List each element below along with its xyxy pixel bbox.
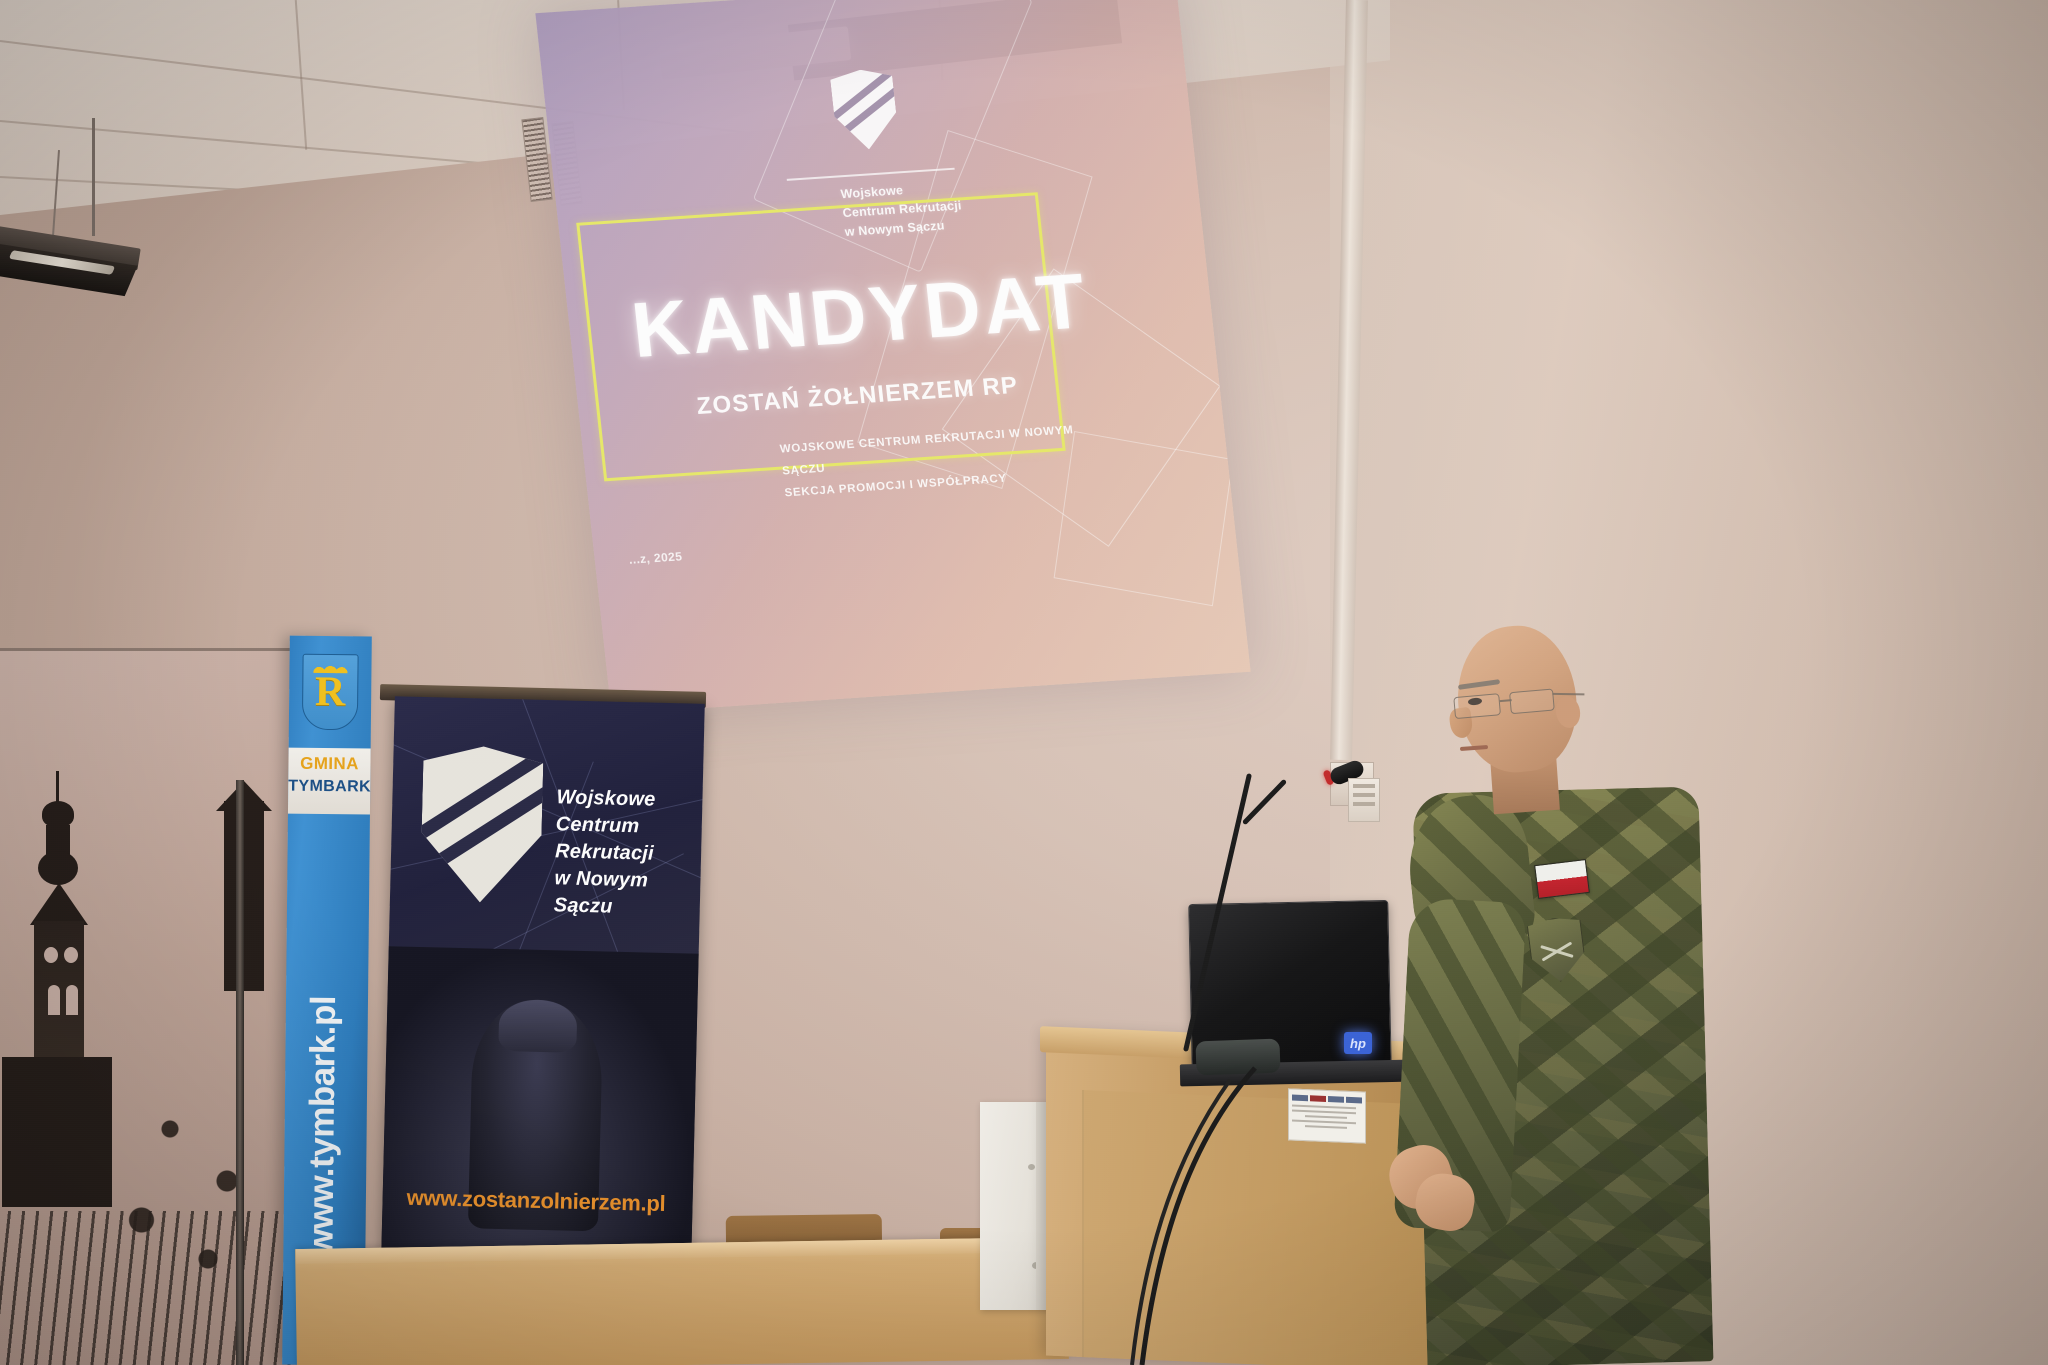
polish-flag-patch-icon bbox=[1534, 859, 1590, 899]
flag-label-tymbark: TYMBARK bbox=[288, 778, 370, 797]
crossed-swords-icon bbox=[1539, 938, 1576, 966]
presentation-room-scene: Wojskowe Centrum Rekrutacji w Nowym Sącz… bbox=[0, 0, 2048, 1365]
projection-screen: Wojskowe Centrum Rekrutacji w Nowym Sącz… bbox=[535, 0, 1250, 714]
banner-org-line-2: Centrum bbox=[555, 811, 704, 842]
shield-icon bbox=[420, 745, 544, 904]
flag-pole bbox=[236, 780, 244, 1365]
speaker-officer bbox=[1380, 600, 1710, 1365]
banner-organization-name: Wojskowe Centrum Rekrutacji w Nowym Sącz… bbox=[553, 784, 704, 923]
crest-letter: R bbox=[315, 671, 346, 713]
banner-org-line-1: Wojskowe bbox=[556, 784, 705, 815]
clasped-hands bbox=[1390, 1136, 1480, 1232]
shield-icon bbox=[829, 68, 900, 152]
crowned-r-coat-of-arms-icon: R bbox=[302, 654, 359, 731]
banner-helmet-silhouette bbox=[498, 999, 577, 1053]
slide-date: ...z, 2025 bbox=[628, 549, 683, 566]
hp-logo-icon: hp bbox=[1344, 1032, 1372, 1054]
wall-outlet-plate[interactable] bbox=[1348, 778, 1380, 822]
cable-bundle bbox=[1080, 1040, 1340, 1365]
banner-org-line-3: Rekrutacji bbox=[555, 838, 705, 869]
flag-label-gmina: GMINA bbox=[288, 754, 370, 775]
banner-org-line-4: w Nowym Sączu bbox=[553, 865, 704, 923]
wall-mural-church-drawing bbox=[0, 648, 294, 1365]
crown-icon bbox=[313, 661, 347, 673]
wcr-rollup-banner: Wojskowe Centrum Rekrutacji w Nowym Sącz… bbox=[381, 696, 705, 1263]
